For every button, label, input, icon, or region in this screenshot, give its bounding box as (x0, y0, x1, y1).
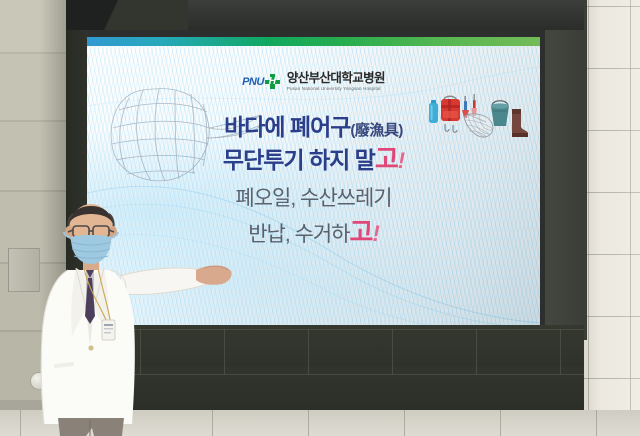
subline-2-accent: 고 (350, 217, 373, 247)
ceiling-soffit-angle (56, 0, 188, 30)
subline-2-main: 반납, 수거하 (248, 223, 349, 246)
gray-trousers (58, 418, 124, 436)
presenter-figure (28, 196, 238, 436)
photo-scene: PNU H 양산부산대학교병원 Pusan National Universit… (0, 0, 640, 436)
headline-line-1-main: 바다에 폐어구 (224, 114, 350, 140)
pnu-wordmark: PNU (242, 76, 264, 88)
slide-top-gradient-bar (87, 37, 540, 46)
subline-2-mark: ! (372, 221, 378, 246)
hospital-name-ko: 양산부산대학교병원 (287, 72, 385, 85)
coat-button (88, 345, 93, 350)
hospital-name-block: 양산부산대학교병원 Pusan National University Yang… (287, 72, 385, 91)
green-cross-icon: H (265, 74, 280, 89)
hospital-name-en: Pusan National University Yangsan Hospit… (287, 86, 385, 91)
cross-letter: H (265, 74, 280, 89)
headline-line-2-mark: ! (398, 148, 404, 173)
presenting-arm (120, 266, 232, 295)
headline-line-1-hanja: (廢漁具) (350, 122, 403, 139)
head (64, 204, 118, 270)
headline-line-2-accent: 고 (375, 144, 398, 174)
pnu-logo-mark: PNU H (242, 74, 280, 89)
headline-line-2: 무단투기 하지 말고! (87, 144, 540, 176)
headline-line-1: 바다에 폐어구(廢漁具) (87, 114, 540, 141)
headline-line-2-main: 무단투기 하지 말 (223, 147, 375, 173)
display-right-bezel (545, 0, 587, 340)
